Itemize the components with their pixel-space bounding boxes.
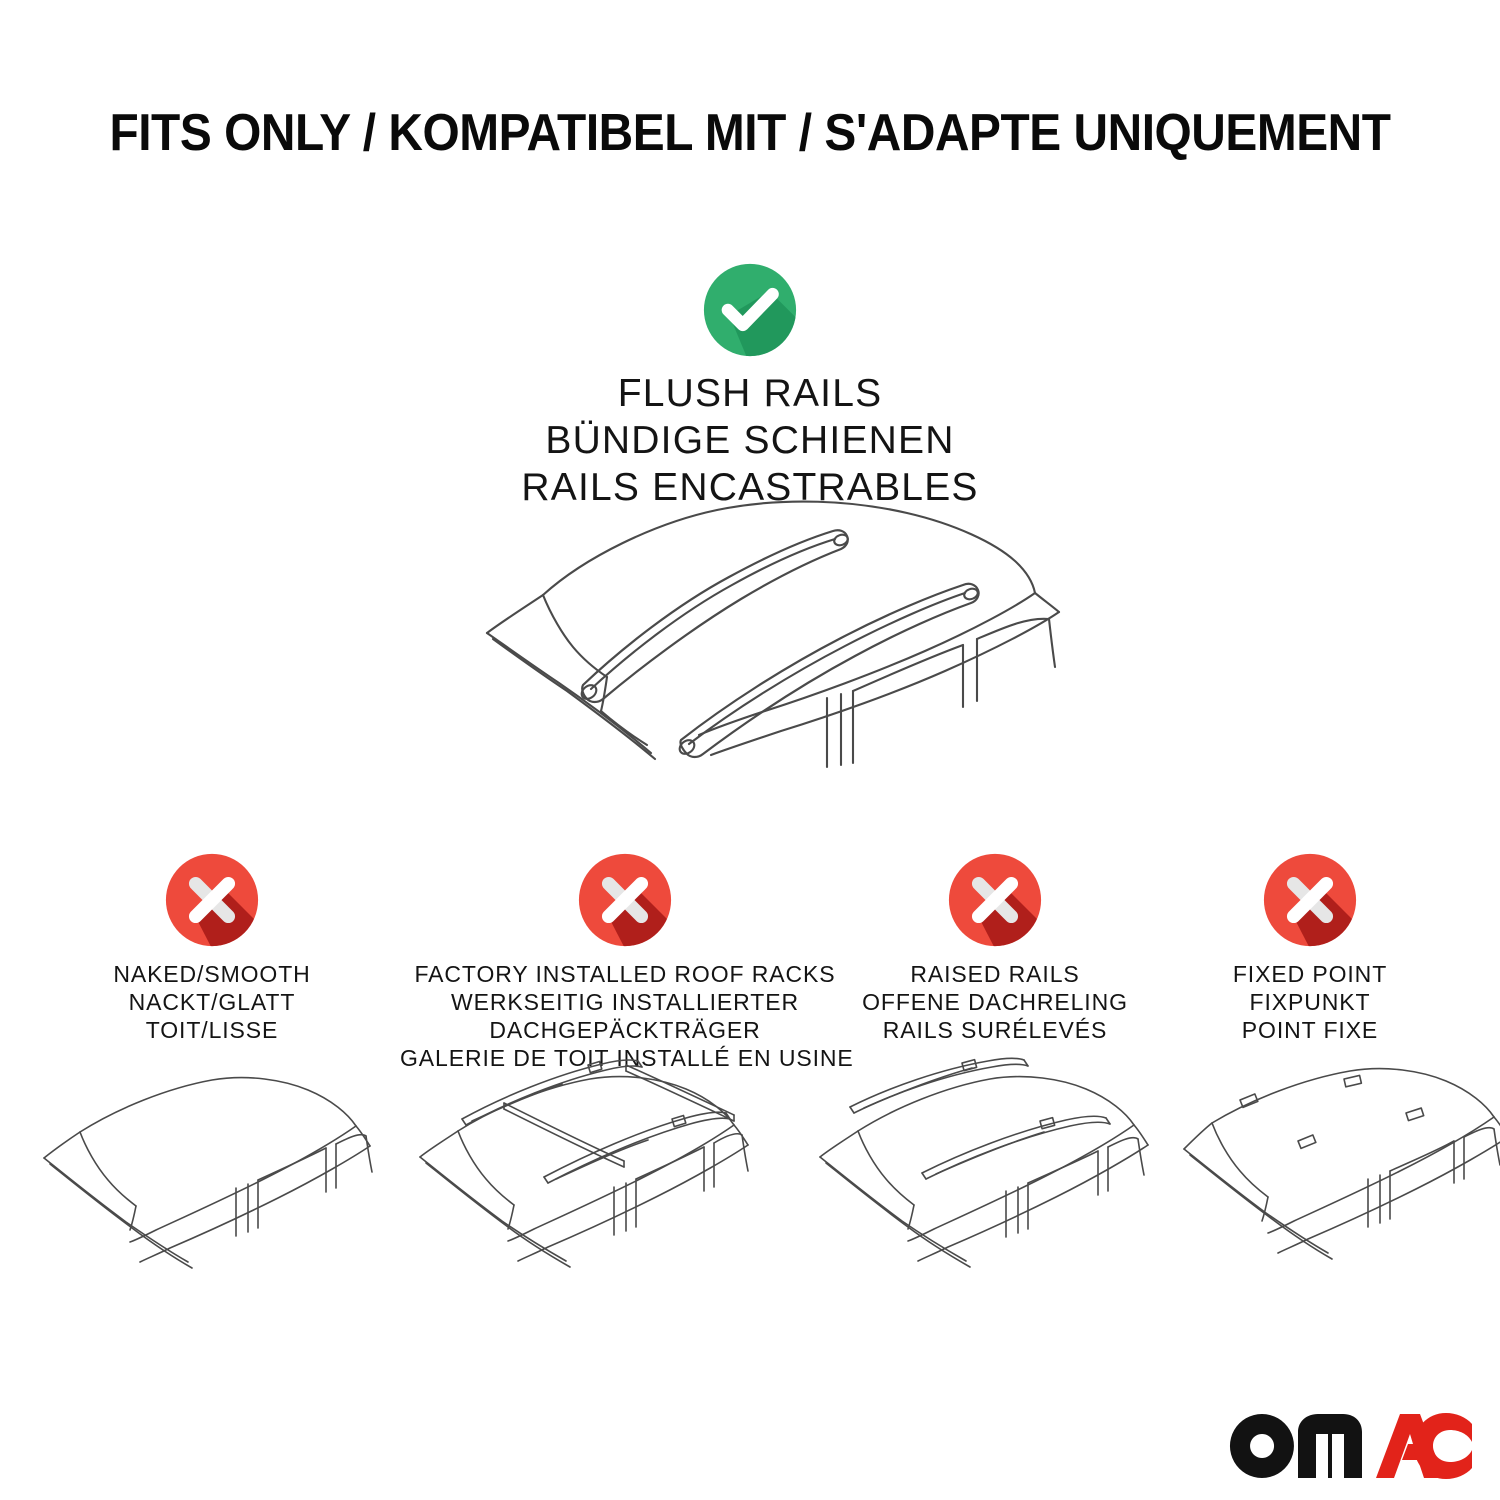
incompatible-column-naked-smooth: NAKED/SMOOTH NACKT/GLATT TOIT/LISSE — [22, 852, 402, 1044]
badge-wrap — [1155, 852, 1465, 952]
page-title: FITS ONLY / KOMPATIBEL MIT / S'ADAPTE UN… — [60, 103, 1440, 163]
badge-wrap — [22, 852, 402, 952]
label-fr: POINT FIXE — [1155, 1016, 1465, 1044]
label-de-2: DACHGEPÄCKTRÄGER — [400, 1016, 850, 1044]
x-circle-icon — [577, 852, 673, 948]
incompatible-column-factory-roof-racks: FACTORY INSTALLED ROOF RACKS WERKSEITIG … — [400, 852, 850, 1072]
logo-letter-o — [1230, 1414, 1294, 1478]
x-circle-icon — [164, 852, 260, 948]
incompatible-column-fixed-point: FIXED POINT FIXPUNKT POINT FIXE — [1155, 852, 1465, 1044]
logo-letter-m — [1298, 1414, 1362, 1478]
compatible-label-en: FLUSH RAILS — [380, 370, 1120, 417]
column-labels: NAKED/SMOOTH NACKT/GLATT TOIT/LISSE — [22, 960, 402, 1044]
label-en: FIXED POINT — [1155, 960, 1465, 988]
label-fr: TOIT/LISSE — [22, 1016, 402, 1044]
car-roof-raised-rails-illustration — [812, 1055, 1162, 1270]
label-de: OFFENE DACHRELING — [830, 988, 1160, 1016]
label-en: RAISED RAILS — [830, 960, 1160, 988]
check-circle-icon — [702, 262, 798, 358]
compatible-block: FLUSH RAILS BÜNDIGE SCHIENEN RAILS ENCAS… — [380, 262, 1120, 511]
compatible-labels: FLUSH RAILS BÜNDIGE SCHIENEN RAILS ENCAS… — [380, 370, 1120, 511]
fitment-infographic-page: FITS ONLY / KOMPATIBEL MIT / S'ADAPTE UN… — [0, 0, 1500, 1500]
label-de-1: WERKSEITIG INSTALLIERTER — [400, 988, 850, 1016]
column-labels: FIXED POINT FIXPUNKT POINT FIXE — [1155, 960, 1465, 1044]
x-circle-icon — [947, 852, 1043, 948]
label-fr: RAILS SURÉLEVÉS — [830, 1016, 1160, 1044]
label-en: NAKED/SMOOTH — [22, 960, 402, 988]
car-roof-flush-rails-illustration — [455, 495, 1065, 795]
badge-wrap — [830, 852, 1160, 952]
column-labels: RAISED RAILS OFFENE DACHRELING RAILS SUR… — [830, 960, 1160, 1044]
omac-logo — [1228, 1412, 1473, 1480]
label-de: NACKT/GLATT — [22, 988, 402, 1016]
car-roof-factory-roof-racks-illustration — [412, 1055, 762, 1270]
x-circle-icon — [1262, 852, 1358, 948]
compatible-label-de: BÜNDIGE SCHIENEN — [380, 417, 1120, 464]
badge-wrap — [400, 852, 850, 952]
car-roof-naked-smooth-illustration — [40, 1060, 380, 1275]
label-de: FIXPUNKT — [1155, 988, 1465, 1016]
car-roof-fixed-point-illustration — [1182, 1055, 1500, 1270]
incompatible-column-raised-rails: RAISED RAILS OFFENE DACHRELING RAILS SUR… — [830, 852, 1160, 1044]
label-en: FACTORY INSTALLED ROOF RACKS — [400, 960, 850, 988]
